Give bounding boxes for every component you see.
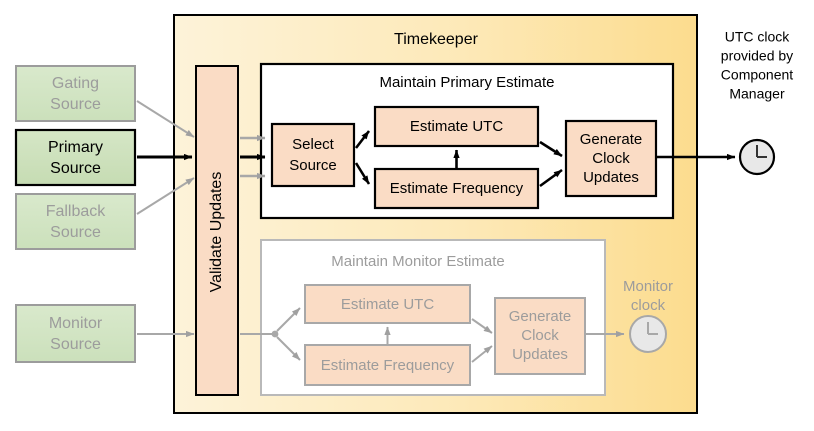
clock-icon xyxy=(740,140,774,174)
maintain-monitor-estimate-title: Maintain Monitor Estimate xyxy=(331,253,504,270)
utc-clock-label-line2: provided by xyxy=(721,48,793,64)
monitor-branch-junction-dot xyxy=(272,331,279,338)
monitor-estimate-utc[interactable]: Estimate UTC xyxy=(305,285,470,323)
monitor-clock-label-line2: clock xyxy=(631,297,666,314)
validate-updates-label: Validate Updates xyxy=(208,172,225,293)
source-monitor-label-line1: Monitor xyxy=(49,315,103,332)
primary-estimate-frequency[interactable]: Estimate Frequency xyxy=(375,169,538,208)
utc-clock-label-line1: UTC clock xyxy=(725,29,791,45)
primary-select-source-label-line2: Source xyxy=(289,157,337,174)
source-primary-label-line2: Source xyxy=(50,160,101,177)
primary-estimate-utc[interactable]: Estimate UTC xyxy=(375,107,538,146)
primary-estimate-utc-label: Estimate UTC xyxy=(410,118,504,135)
maintain-primary-estimate: Maintain Primary Estimate Select Source … xyxy=(240,64,673,218)
clock-icon xyxy=(630,316,666,352)
maintain-monitor-estimate: Maintain Monitor Estimate Estimate UTC E… xyxy=(240,240,624,395)
source-fallback[interactable]: Fallback Source xyxy=(16,194,135,249)
primary-select-source[interactable]: Select Source xyxy=(272,124,354,186)
maintain-primary-estimate-title: Maintain Primary Estimate xyxy=(379,74,554,91)
monitor-generate-clock-updates-line2: Clock xyxy=(521,327,559,344)
diagram-canvas: Timekeeper Gating Source Primary Source … xyxy=(0,0,814,431)
source-gating-label-line2: Source xyxy=(50,96,101,113)
primary-generate-clock-updates-line1: Generate xyxy=(580,131,643,148)
primary-select-source-label-line1: Select xyxy=(292,136,335,153)
monitor-estimate-frequency-label: Estimate Frequency xyxy=(321,357,455,374)
primary-estimate-frequency-label: Estimate Frequency xyxy=(390,180,524,197)
source-primary-label-line1: Primary xyxy=(48,139,103,156)
primary-generate-clock-updates-line3: Updates xyxy=(583,169,639,186)
monitor-generate-clock-updates-line1: Generate xyxy=(509,308,572,325)
primary-select-source-box[interactable] xyxy=(272,124,354,186)
utc-clock-label-line3: Component xyxy=(721,67,793,83)
monitor-generate-clock-updates[interactable]: Generate Clock Updates xyxy=(495,298,585,374)
monitor-clock-label-line1: Monitor xyxy=(623,278,673,295)
monitor-estimate-utc-label: Estimate UTC xyxy=(341,296,435,313)
timekeeper-block-diagram: Timekeeper Gating Source Primary Source … xyxy=(0,0,814,431)
validate-updates[interactable]: Validate Updates xyxy=(196,66,238,395)
source-monitor-box[interactable] xyxy=(16,305,135,362)
source-gating-label-line1: Gating xyxy=(52,75,99,92)
source-monitor-label-line2: Source xyxy=(50,336,101,353)
source-primary[interactable]: Primary Source xyxy=(16,130,135,185)
primary-generate-clock-updates[interactable]: Generate Clock Updates xyxy=(566,121,656,196)
source-fallback-label-line1: Fallback xyxy=(46,203,107,220)
source-monitor[interactable]: Monitor Source xyxy=(16,305,135,362)
primary-generate-clock-updates-line2: Clock xyxy=(592,150,630,167)
monitor-estimate-frequency[interactable]: Estimate Frequency xyxy=(305,345,470,385)
timekeeper-title: Timekeeper xyxy=(394,31,479,48)
monitor-generate-clock-updates-line3: Updates xyxy=(512,346,568,363)
utc-clock: UTC clock provided by Component Manager xyxy=(721,29,793,174)
source-gating[interactable]: Gating Source xyxy=(16,66,135,121)
source-fallback-label-line2: Source xyxy=(50,224,101,241)
utc-clock-label-line4: Manager xyxy=(729,86,785,102)
